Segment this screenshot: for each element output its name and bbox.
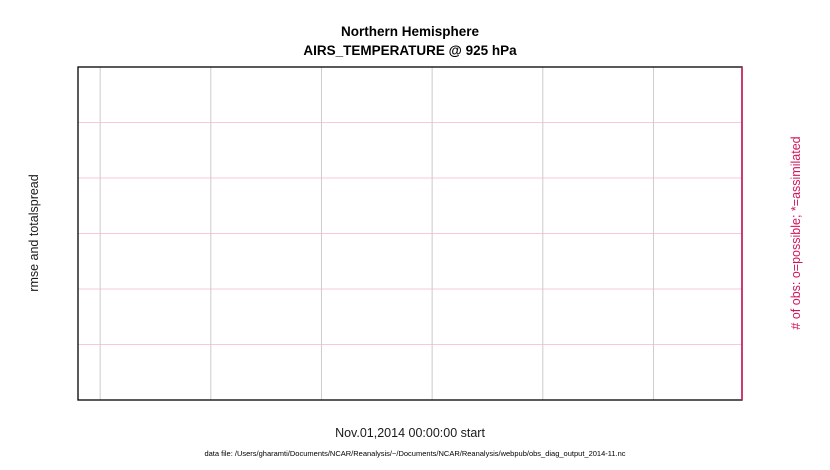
x-axis-label: Nov.01,2014 00:00:00 start bbox=[335, 426, 485, 440]
y-axis-right-label: # of obs: o=possible; *=assimilated bbox=[789, 136, 803, 329]
y-axis-left-label: rmse and totalspread bbox=[27, 174, 41, 291]
chart-title: Northern Hemisphere bbox=[341, 24, 480, 39]
observation-diagnostics-chart: Northern Hemisphere AIRS_TEMPERATURE @ 9… bbox=[0, 0, 830, 470]
data-file-footer: data file: /Users/gharamti/Documents/NCA… bbox=[204, 449, 625, 458]
chart-subtitle: AIRS_TEMPERATURE @ 925 hPa bbox=[303, 43, 517, 58]
